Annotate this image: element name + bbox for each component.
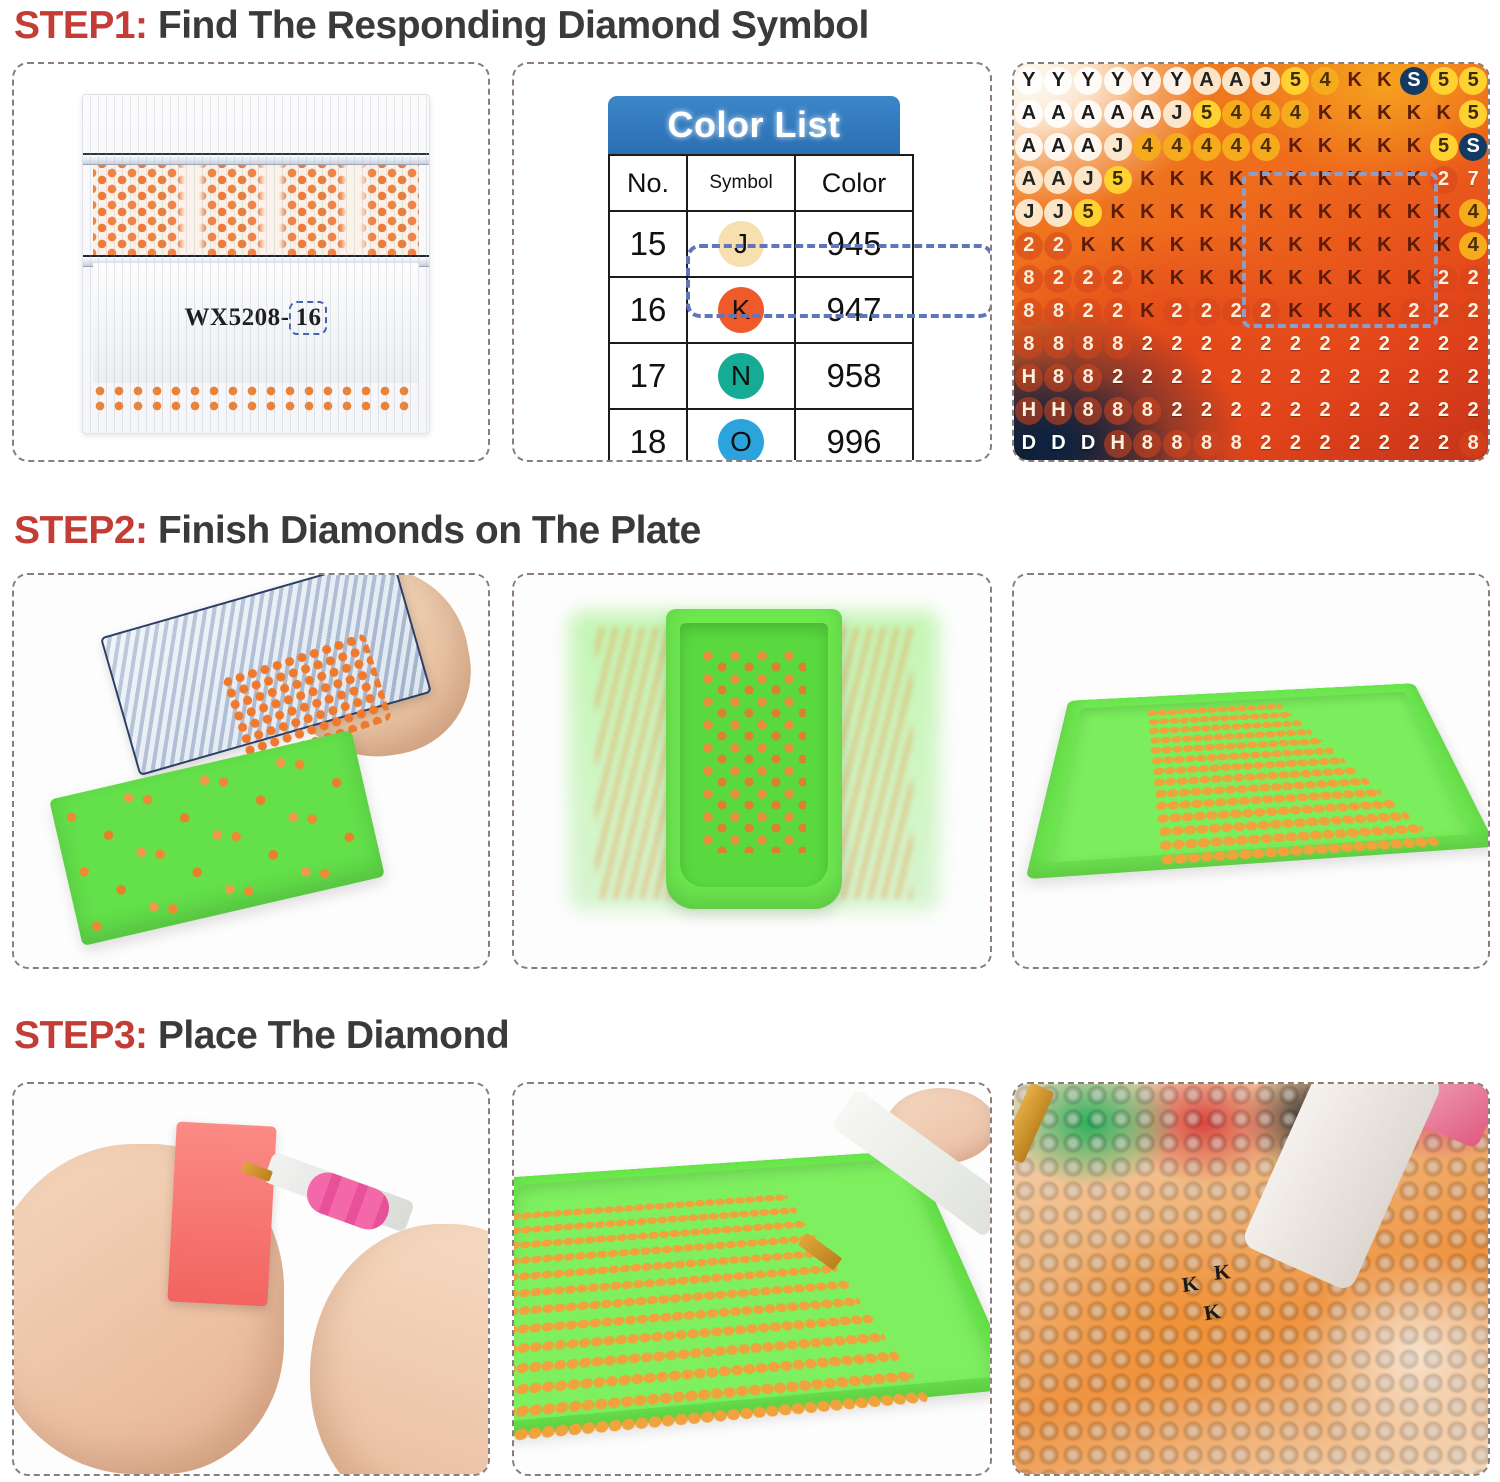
grid-cell: K bbox=[1192, 163, 1222, 196]
grid-cell: 2 bbox=[1192, 361, 1222, 394]
grid-cell: K bbox=[1429, 229, 1459, 262]
grid-cell: 2 bbox=[1399, 427, 1429, 460]
grid-cell: K bbox=[1281, 295, 1311, 328]
grid-cell: A bbox=[1192, 64, 1222, 97]
row-no: 18 bbox=[609, 409, 687, 462]
grid-cell: 8 bbox=[1133, 394, 1163, 427]
step2-title: Finish Diamonds on The Plate bbox=[158, 509, 701, 552]
diamond-rows bbox=[1137, 699, 1420, 850]
grid-cell: K bbox=[1340, 130, 1370, 163]
canvas-symbol: K bbox=[1213, 1259, 1232, 1286]
grid-cell: 2 bbox=[1251, 295, 1281, 328]
grid-cell: K bbox=[1251, 163, 1281, 196]
grid-cell: D bbox=[1044, 427, 1074, 460]
grid-cell: Y bbox=[1044, 64, 1074, 97]
grid-cell: 2 bbox=[1458, 262, 1488, 295]
grid-cell: J bbox=[1073, 163, 1103, 196]
grid-cell: 2 bbox=[1340, 361, 1370, 394]
grid-cell: A bbox=[1014, 130, 1044, 163]
panel-pick-diamond bbox=[512, 1082, 992, 1476]
grid-cell: K bbox=[1340, 295, 1370, 328]
grid-cell: H bbox=[1014, 361, 1044, 394]
grid-cell: A bbox=[1073, 130, 1103, 163]
grid-cell: K bbox=[1370, 196, 1400, 229]
step3-title: Place The Diamond bbox=[158, 1014, 509, 1057]
grid-cell: A bbox=[1133, 97, 1163, 130]
step3-number: STEP3: bbox=[14, 1014, 148, 1057]
row-color: 947 bbox=[795, 277, 913, 343]
grid-cell: K bbox=[1310, 229, 1340, 262]
grid-cell: K bbox=[1340, 163, 1370, 196]
grid-cell: K bbox=[1399, 196, 1429, 229]
panel-diamond-bag: WX5208-16 bbox=[12, 62, 490, 462]
grid-cell: 2 bbox=[1014, 229, 1044, 262]
grid-cell: 2 bbox=[1429, 262, 1459, 295]
row-symbol: J bbox=[687, 211, 795, 277]
grid-cell: K bbox=[1103, 196, 1133, 229]
diamond-tray bbox=[512, 1150, 992, 1440]
grid-cell: K bbox=[1370, 130, 1400, 163]
grid-cell: 2 bbox=[1133, 328, 1163, 361]
grid-cell: 4 bbox=[1162, 130, 1192, 163]
grid-cell: 2 bbox=[1162, 328, 1192, 361]
grid-cell: 2 bbox=[1340, 394, 1370, 427]
hand-right bbox=[310, 1224, 490, 1476]
grid-cell: 2 bbox=[1073, 262, 1103, 295]
grid-cell: K bbox=[1192, 229, 1222, 262]
symbol-dot: J bbox=[718, 221, 764, 267]
grid-cell: 5 bbox=[1458, 64, 1488, 97]
grid-cell: K bbox=[1251, 196, 1281, 229]
grid-cell: K bbox=[1399, 229, 1429, 262]
grid-cell: 8 bbox=[1458, 427, 1488, 460]
grid-cell: 2 bbox=[1310, 328, 1340, 361]
symbol-dot: N bbox=[718, 353, 764, 399]
grid-cell: 8 bbox=[1103, 328, 1133, 361]
step1-heading: STEP1: Find The Responding Diamond Symbo… bbox=[14, 4, 869, 48]
grid-cell: A bbox=[1014, 97, 1044, 130]
row-symbol: K bbox=[687, 277, 795, 343]
grid-cell: 5 bbox=[1429, 130, 1459, 163]
color-list-table: No. Symbol Color 15 J 945 16 K 947 17 N bbox=[608, 154, 914, 462]
table-row: 17 N 958 bbox=[609, 343, 913, 409]
grid-cell: K bbox=[1221, 196, 1251, 229]
grid-cell: K bbox=[1310, 196, 1340, 229]
instruction-sheet: STEP1: Find The Responding Diamond Symbo… bbox=[0, 0, 1500, 1482]
color-list-card: Color List No. Symbol Color 15 J 945 16 … bbox=[608, 96, 900, 462]
grid-cell: 8 bbox=[1014, 295, 1044, 328]
grid-cell: 2 bbox=[1458, 394, 1488, 427]
grid-cell: D bbox=[1073, 427, 1103, 460]
photo-shake-tray bbox=[514, 575, 990, 967]
header-symbol: Symbol bbox=[687, 155, 795, 211]
grid-cell: 2 bbox=[1103, 295, 1133, 328]
grid-cell: 7 bbox=[1458, 163, 1488, 196]
grid-cell: 5 bbox=[1192, 97, 1222, 130]
grid-cell: A bbox=[1103, 97, 1133, 130]
grid-cell: 2 bbox=[1251, 361, 1281, 394]
grid-cell: K bbox=[1310, 97, 1340, 130]
grid-cell: 2 bbox=[1458, 361, 1488, 394]
grid-cell: K bbox=[1133, 163, 1163, 196]
grid-cell: K bbox=[1340, 97, 1370, 130]
grid-cell: S bbox=[1399, 64, 1429, 97]
grid-cell: 4 bbox=[1458, 229, 1488, 262]
grid-cell: 4 bbox=[1221, 97, 1251, 130]
grid-cell: K bbox=[1399, 163, 1429, 196]
grid-cell: J bbox=[1251, 64, 1281, 97]
grid-cell: K bbox=[1192, 196, 1222, 229]
grid-cell: 2 bbox=[1044, 262, 1074, 295]
printed-canvas: YYYYYYAAJ54KKS55AAAAAJ5444KKKKK5AAAJ4444… bbox=[1014, 64, 1488, 460]
diamond-rows bbox=[512, 1196, 787, 1417]
grid-cell: H bbox=[1103, 427, 1133, 460]
grid-cell: 2 bbox=[1044, 229, 1074, 262]
grid-cell: K bbox=[1370, 295, 1400, 328]
grid-cell: 5 bbox=[1103, 163, 1133, 196]
grid-cell: 2 bbox=[1310, 361, 1340, 394]
bag-texture bbox=[83, 95, 429, 433]
grid-cell: 8 bbox=[1044, 361, 1074, 394]
header-color: Color bbox=[795, 155, 913, 211]
grid-cell: K bbox=[1251, 229, 1281, 262]
grid-cell: K bbox=[1133, 229, 1163, 262]
grid-cell: 4 bbox=[1281, 97, 1311, 130]
grid-cell: K bbox=[1310, 295, 1340, 328]
grid-cell: K bbox=[1370, 229, 1400, 262]
grid-cell: H bbox=[1044, 394, 1074, 427]
symbol-grid: YYYYYYAAJ54KKS55AAAAAJ5444KKKKK5AAAJ4444… bbox=[1014, 64, 1488, 460]
grid-cell: A bbox=[1044, 130, 1074, 163]
panel-pour-diamonds bbox=[12, 573, 490, 969]
grid-cell: 8 bbox=[1014, 262, 1044, 295]
step1-number: STEP1: bbox=[14, 4, 148, 47]
grid-cell: 8 bbox=[1103, 394, 1133, 427]
panel-place-diamond: K K K bbox=[1012, 1082, 1490, 1476]
grid-cell: 8 bbox=[1044, 328, 1074, 361]
row-color: 996 bbox=[795, 409, 913, 462]
table-row: 15 J 945 bbox=[609, 211, 913, 277]
grid-cell: 8 bbox=[1162, 427, 1192, 460]
grid-cell: K bbox=[1162, 163, 1192, 196]
grid-cell: K bbox=[1103, 229, 1133, 262]
grid-cell: K bbox=[1429, 97, 1459, 130]
grid-cell: J bbox=[1162, 97, 1192, 130]
row-color: 945 bbox=[795, 211, 913, 277]
grid-cell: K bbox=[1162, 196, 1192, 229]
diamond-tray bbox=[666, 609, 842, 909]
grid-cell: A bbox=[1044, 163, 1074, 196]
table-row: 18 O 996 bbox=[609, 409, 913, 462]
grid-cell: K bbox=[1133, 295, 1163, 328]
grid-cell: K bbox=[1221, 229, 1251, 262]
step1-title: Find The Responding Diamond Symbol bbox=[158, 4, 869, 47]
diamond-tray bbox=[49, 730, 385, 946]
grid-cell: 2 bbox=[1162, 295, 1192, 328]
grid-cell: J bbox=[1014, 196, 1044, 229]
grid-cell: 2 bbox=[1103, 262, 1133, 295]
zip-bag: WX5208-16 bbox=[82, 94, 430, 434]
grid-cell: 8 bbox=[1073, 328, 1103, 361]
grid-cell: K bbox=[1310, 262, 1340, 295]
grid-cell: 2 bbox=[1281, 328, 1311, 361]
grid-cell: 4 bbox=[1310, 64, 1340, 97]
grid-cell: 8 bbox=[1073, 361, 1103, 394]
grid-cell: 2 bbox=[1370, 361, 1400, 394]
grid-cell: 2 bbox=[1162, 394, 1192, 427]
grid-cell: 8 bbox=[1014, 328, 1044, 361]
row-symbol: O bbox=[687, 409, 795, 462]
grid-cell: 2 bbox=[1429, 394, 1459, 427]
photo-diamond-bag: WX5208-16 bbox=[14, 64, 488, 460]
grid-cell: K bbox=[1370, 262, 1400, 295]
step2-heading: STEP2: Finish Diamonds on The Plate bbox=[14, 509, 701, 553]
diamonds-in-tray bbox=[702, 649, 806, 853]
grid-cell: S bbox=[1458, 130, 1488, 163]
grid-cell: A bbox=[1221, 64, 1251, 97]
grid-cell: 2 bbox=[1162, 361, 1192, 394]
row-symbol: N bbox=[687, 343, 795, 409]
grid-cell: K bbox=[1073, 229, 1103, 262]
row-color: 958 bbox=[795, 343, 913, 409]
grid-cell: 2 bbox=[1221, 361, 1251, 394]
grid-cell: K bbox=[1281, 229, 1311, 262]
grid-cell: K bbox=[1192, 262, 1222, 295]
grid-cell: K bbox=[1399, 130, 1429, 163]
grid-cell: 2 bbox=[1399, 394, 1429, 427]
grid-cell: 2 bbox=[1429, 427, 1459, 460]
table-header-row: No. Symbol Color bbox=[609, 155, 913, 211]
table-row: 16 K 947 bbox=[609, 277, 913, 343]
grid-cell: 2 bbox=[1458, 295, 1488, 328]
grid-cell: 4 bbox=[1133, 130, 1163, 163]
grid-cell: 8 bbox=[1044, 295, 1074, 328]
panel-dip-wax bbox=[12, 1082, 490, 1476]
grid-cell: Y bbox=[1014, 64, 1044, 97]
grid-cell: K bbox=[1133, 262, 1163, 295]
grid-cell: A bbox=[1014, 163, 1044, 196]
grid-cell: 4 bbox=[1458, 196, 1488, 229]
grid-cell: 8 bbox=[1221, 427, 1251, 460]
grid-cell: 2 bbox=[1399, 295, 1429, 328]
grid-cell: 2 bbox=[1370, 394, 1400, 427]
grid-cell: K bbox=[1429, 196, 1459, 229]
grid-cell: K bbox=[1370, 64, 1400, 97]
grid-cell: 2 bbox=[1429, 328, 1459, 361]
grid-cell: Y bbox=[1103, 64, 1133, 97]
panel-aligned-diamonds bbox=[1012, 573, 1490, 969]
grid-cell: 5 bbox=[1281, 64, 1311, 97]
grid-cell: K bbox=[1281, 130, 1311, 163]
header-no: No. bbox=[609, 155, 687, 211]
grid-cell: D bbox=[1014, 427, 1044, 460]
grid-cell: K bbox=[1370, 97, 1400, 130]
wax-pad bbox=[167, 1122, 276, 1307]
grid-cell: 2 bbox=[1251, 427, 1281, 460]
grid-cell: K bbox=[1340, 196, 1370, 229]
grid-cell: K bbox=[1281, 196, 1311, 229]
grid-cell: K bbox=[1251, 262, 1281, 295]
grid-cell: K bbox=[1162, 262, 1192, 295]
grid-cell: J bbox=[1103, 130, 1133, 163]
photo-dip-wax bbox=[14, 1084, 488, 1474]
grid-cell: K bbox=[1133, 196, 1163, 229]
grid-cell: 2 bbox=[1340, 427, 1370, 460]
symbol-dot: K bbox=[718, 287, 764, 333]
grid-cell: 5 bbox=[1458, 97, 1488, 130]
grid-cell: K bbox=[1310, 163, 1340, 196]
grid-cell: 2 bbox=[1251, 328, 1281, 361]
canvas-symbol: K bbox=[1180, 1271, 1200, 1298]
grid-cell: 2 bbox=[1192, 328, 1222, 361]
grid-cell: K bbox=[1340, 229, 1370, 262]
grid-cell: 2 bbox=[1399, 328, 1429, 361]
grid-cell: 4 bbox=[1251, 130, 1281, 163]
grid-cell: K bbox=[1310, 130, 1340, 163]
grid-cell: 2 bbox=[1192, 295, 1222, 328]
grid-cell: 2 bbox=[1340, 328, 1370, 361]
grid-cell: 4 bbox=[1192, 130, 1222, 163]
grid-cell: 2 bbox=[1133, 361, 1163, 394]
grid-cell: 5 bbox=[1073, 196, 1103, 229]
grid-cell: Y bbox=[1162, 64, 1192, 97]
grid-cell: 2 bbox=[1429, 163, 1459, 196]
grid-cell: K bbox=[1340, 262, 1370, 295]
grid-cell: 2 bbox=[1370, 328, 1400, 361]
scattered-diamonds bbox=[59, 740, 376, 937]
grid-cell: K bbox=[1399, 97, 1429, 130]
grid-cell: 2 bbox=[1221, 328, 1251, 361]
grid-cell: 2 bbox=[1192, 394, 1222, 427]
grid-cell: K bbox=[1281, 262, 1311, 295]
grid-cell: J bbox=[1044, 196, 1074, 229]
grid-cell: 2 bbox=[1310, 427, 1340, 460]
grid-cell: 2 bbox=[1429, 361, 1459, 394]
tray-well bbox=[680, 623, 828, 887]
photo-place-diamond: K K K bbox=[1014, 1084, 1488, 1474]
photo-pick-diamond bbox=[514, 1084, 990, 1474]
grid-cell: 2 bbox=[1281, 361, 1311, 394]
grid-cell: 2 bbox=[1370, 427, 1400, 460]
photo-pour-diamonds bbox=[14, 575, 488, 967]
grid-cell: Y bbox=[1133, 64, 1163, 97]
step3-heading: STEP3: Place The Diamond bbox=[14, 1014, 509, 1058]
grid-cell: K bbox=[1162, 229, 1192, 262]
step2-number: STEP2: bbox=[14, 509, 148, 552]
grid-cell: K bbox=[1370, 163, 1400, 196]
panel-symbol-grid: YYYYYYAAJ54KKS55AAAAAJ5444KKKKK5AAAJ4444… bbox=[1012, 62, 1490, 462]
grid-cell: 8 bbox=[1073, 394, 1103, 427]
grid-cell: 2 bbox=[1251, 394, 1281, 427]
grid-cell: K bbox=[1221, 262, 1251, 295]
symbol-dot: O bbox=[718, 419, 764, 462]
grid-cell: K bbox=[1399, 262, 1429, 295]
diamond-tray bbox=[1025, 683, 1490, 879]
grid-cell: 2 bbox=[1458, 328, 1488, 361]
row-no: 15 bbox=[609, 211, 687, 277]
grid-cell: 2 bbox=[1103, 361, 1133, 394]
grid-cell: A bbox=[1073, 97, 1103, 130]
panel-shake-tray bbox=[512, 573, 992, 969]
grid-cell: 8 bbox=[1133, 427, 1163, 460]
row-no: 17 bbox=[609, 343, 687, 409]
grid-cell: K bbox=[1221, 163, 1251, 196]
grid-cell: 4 bbox=[1251, 97, 1281, 130]
grid-cell: 2 bbox=[1221, 394, 1251, 427]
placed-diamonds bbox=[1014, 1084, 1488, 1474]
row-no: 16 bbox=[609, 277, 687, 343]
grid-cell: 2 bbox=[1399, 361, 1429, 394]
grid-cell: Y bbox=[1073, 64, 1103, 97]
pen-grip bbox=[301, 1167, 394, 1235]
grid-cell: K bbox=[1340, 64, 1370, 97]
grid-cell: A bbox=[1044, 97, 1074, 130]
grid-cell: 2 bbox=[1281, 427, 1311, 460]
grid-cell: 2 bbox=[1281, 394, 1311, 427]
grid-cell: K bbox=[1281, 163, 1311, 196]
photo-aligned-diamonds bbox=[1014, 575, 1488, 967]
grid-cell: H bbox=[1014, 394, 1044, 427]
grid-cell: 2 bbox=[1221, 295, 1251, 328]
panel-color-list: Color List No. Symbol Color 15 J 945 16 … bbox=[512, 62, 992, 462]
grid-cell: 2 bbox=[1310, 394, 1340, 427]
grid-cell: 8 bbox=[1192, 427, 1222, 460]
color-list-title: Color List bbox=[608, 96, 900, 154]
grid-cell: 5 bbox=[1429, 64, 1459, 97]
grid-cell: 2 bbox=[1429, 295, 1459, 328]
grid-cell: 2 bbox=[1073, 295, 1103, 328]
grid-cell: 4 bbox=[1221, 130, 1251, 163]
